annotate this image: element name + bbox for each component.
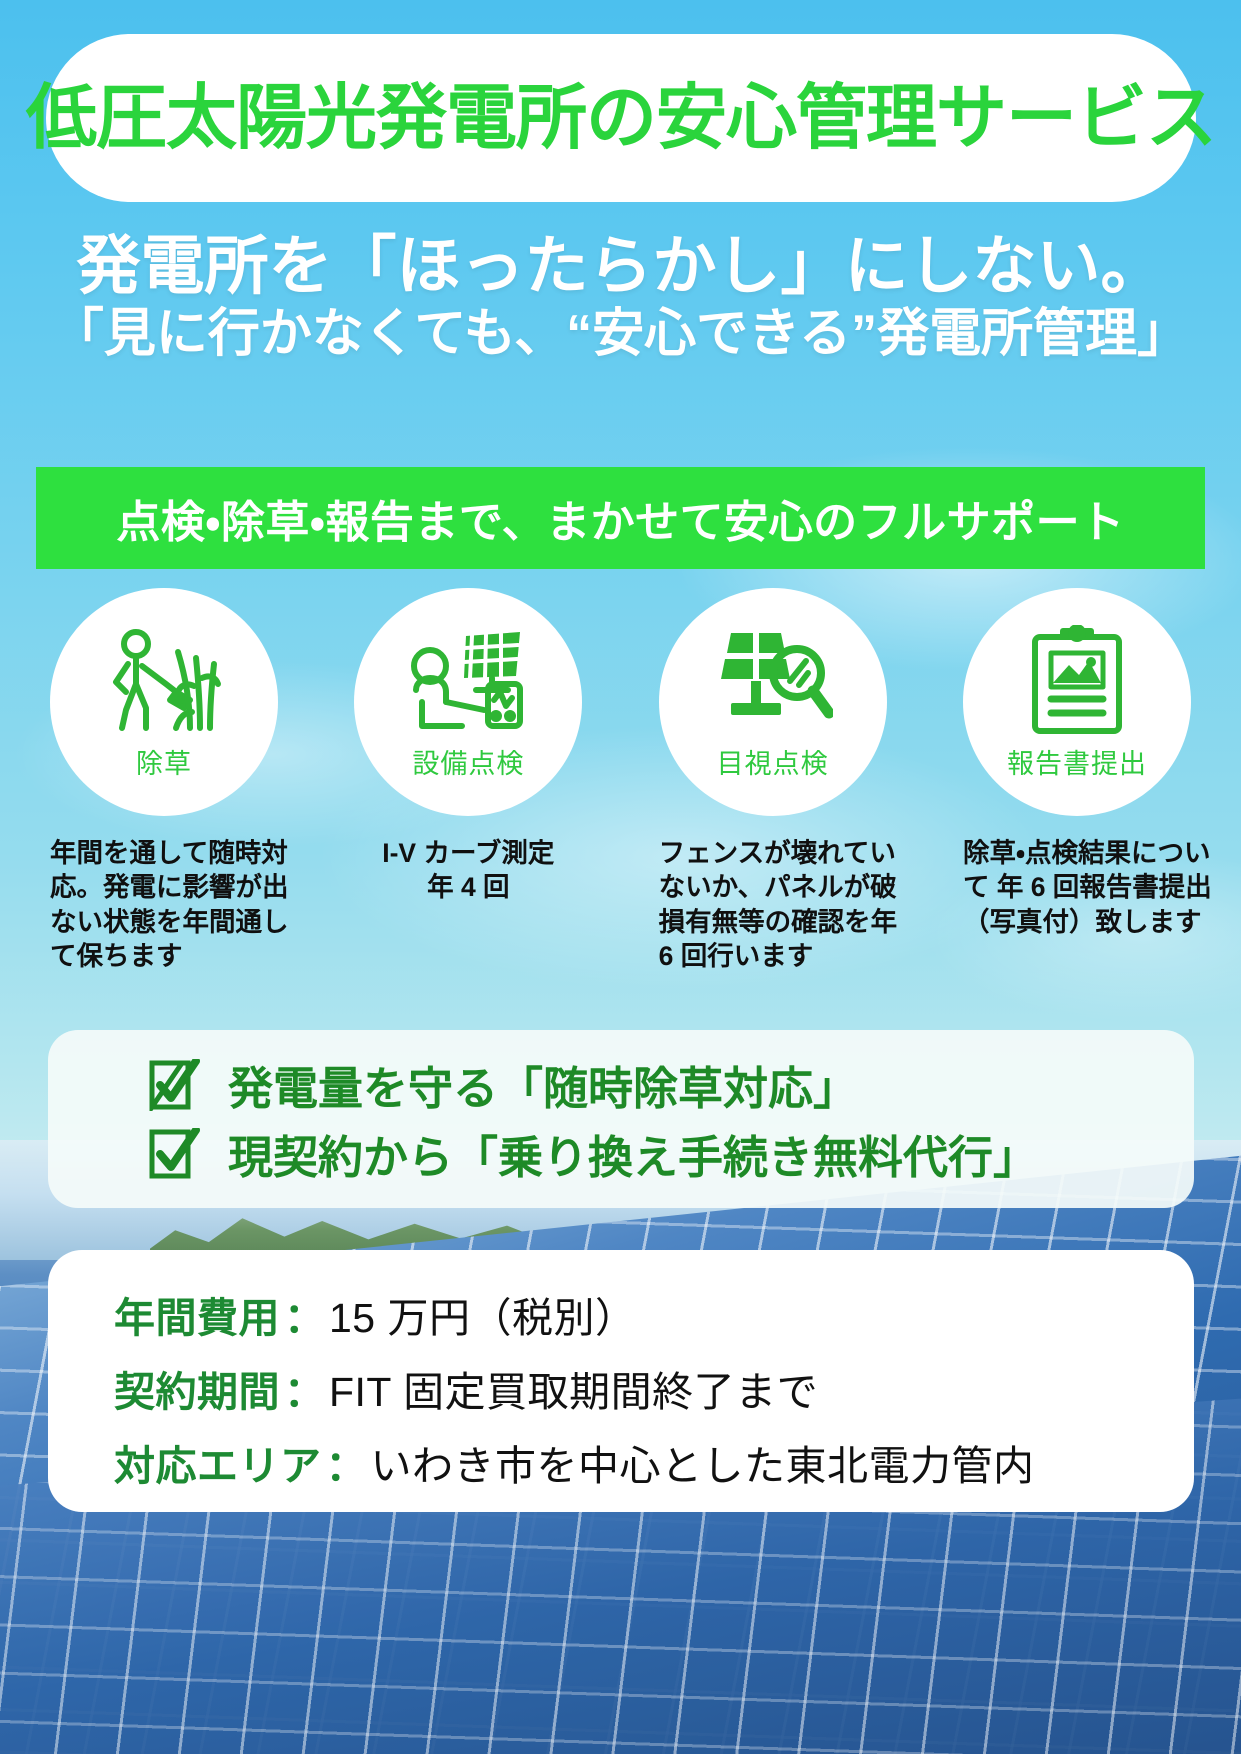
benefit-row: 発電量を守る「随時除草対応」	[48, 1050, 1194, 1119]
benefit-text: 発電量を守る「随時除草対応」	[228, 1052, 858, 1117]
equipment-inspection-icon	[406, 624, 530, 736]
weeding-icon	[106, 624, 222, 736]
benefits-card: 発電量を守る「随時除草対応」 現契約から「乗り換え手続き無料代行」	[48, 1030, 1194, 1208]
support-banner-text: 点検・除草・報告まで、まかせて安心のフルサポート	[116, 486, 1124, 550]
benefit-text: 現契約から「乗り換え手続き無料代行」	[228, 1121, 1038, 1186]
pricing-row-contract-period: 契約期間 ： FIT 固定買取期間終了まで	[114, 1358, 1194, 1432]
feature-caption: 目視点検	[717, 742, 829, 781]
pricing-label: 対応エリア	[114, 1432, 322, 1492]
feature-caption: 設備点検	[412, 742, 524, 781]
checkbox-checked-icon	[148, 1128, 200, 1180]
feature-description: 除草・点検結果について 年 6 回報告書提出（写真付）致します	[941, 836, 1213, 939]
page-title: 低圧太陽光発電所の安心管理サービス	[26, 83, 1216, 154]
title-pill: 低圧太陽光発電所の安心管理サービス	[46, 34, 1196, 202]
headline-line-1: 発電所を「ほったらかし」にしない。	[0, 232, 1241, 301]
feature-description: 年間を通して随時対応。発電に影響が出ない状態を年間通して保ちます	[28, 836, 300, 974]
headline-line-2: 「見に行かなくても、“安心できる”発電所管理」	[0, 305, 1241, 365]
pricing-label: 年間費用	[114, 1284, 280, 1344]
poster-root: 低圧太陽光発電所の安心管理サービス 発電所を「ほったらかし」にしない。 「見に行…	[0, 0, 1241, 1754]
pricing-colon: ：	[280, 1358, 329, 1418]
feature-circle: 設備点検	[354, 588, 582, 816]
pricing-card: 年間費用 ： 15 万円（税別） 契約期間 ： FIT 固定買取期間終了まで 対…	[48, 1250, 1194, 1512]
feature-caption: 報告書提出	[1007, 742, 1147, 781]
visual-inspection-icon	[713, 624, 833, 736]
feature-item-equipment-inspection: 設備点検 I-V カーブ測定 年 4 回	[332, 588, 604, 974]
feature-description: フェンスが壊れていないか、パネルが破損有無等の確認を年 6 回行います	[637, 836, 909, 974]
pricing-colon: ：	[322, 1432, 371, 1492]
pricing-row-service-area: 対応エリア ： いわき市を中心とした東北電力管内	[114, 1432, 1194, 1506]
pricing-value: FIT 固定買取期間終了まで	[329, 1358, 818, 1418]
support-banner: 点検・除草・報告まで、まかせて安心のフルサポート	[36, 467, 1205, 569]
feature-circle: 報告書提出	[963, 588, 1191, 816]
feature-circle: 除草	[50, 588, 278, 816]
feature-description: I-V カーブ測定 年 4 回	[332, 836, 604, 905]
report-submission-icon	[1025, 624, 1129, 736]
benefit-row: 現契約から「乗り換え手続き無料代行」	[48, 1119, 1194, 1188]
feature-item-weeding: 除草 年間を通して随時対応。発電に影響が出ない状態を年間通して保ちます	[28, 588, 300, 974]
checkbox-checked-icon	[148, 1059, 200, 1111]
pricing-value: いわき市を中心とした東北電力管内	[371, 1432, 1035, 1492]
feature-list: 除草 年間を通して随時対応。発電に影響が出ない状態を年間通して保ちます	[28, 588, 1213, 974]
pricing-label: 契約期間	[114, 1358, 280, 1418]
headline: 発電所を「ほったらかし」にしない。 「見に行かなくても、“安心できる”発電所管理…	[0, 232, 1241, 365]
feature-circle: 目視点検	[659, 588, 887, 816]
feature-item-report-submission: 報告書提出 除草・点検結果について 年 6 回報告書提出（写真付）致します	[941, 588, 1213, 974]
feature-item-visual-inspection: 目視点検 フェンスが壊れていないか、パネルが破損有無等の確認を年 6 回行います	[637, 588, 909, 974]
pricing-row-annual-cost: 年間費用 ： 15 万円（税別）	[114, 1284, 1194, 1358]
feature-caption: 除草	[136, 742, 192, 781]
pricing-value: 15 万円（税別）	[329, 1284, 637, 1344]
pricing-colon: ：	[280, 1284, 329, 1344]
